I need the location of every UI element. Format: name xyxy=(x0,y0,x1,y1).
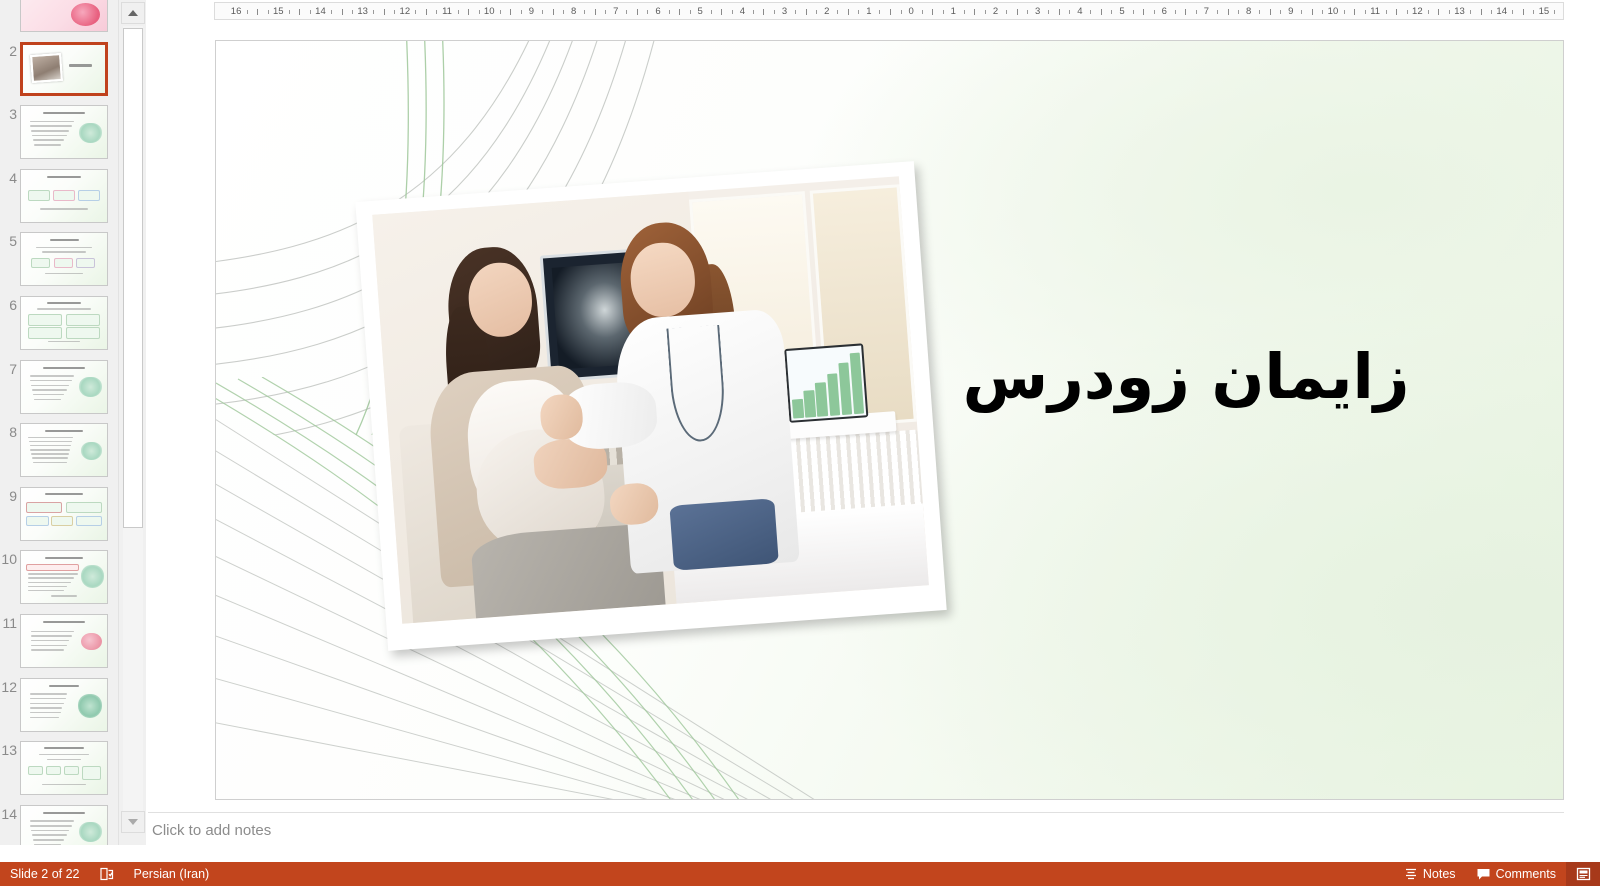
slide-canvas[interactable]: زایمان زودرس xyxy=(215,40,1564,800)
slide-editing-area[interactable]: زایمان زودرس xyxy=(148,22,1564,812)
thumbnail-preview[interactable] xyxy=(20,423,108,477)
ruler-tick xyxy=(1133,10,1134,14)
ruler-tick xyxy=(1238,10,1239,14)
thumbnail-preview[interactable] xyxy=(20,42,108,96)
thumb-text-line xyxy=(31,130,69,132)
thumbnail-preview[interactable] xyxy=(20,614,108,668)
ruler-tick-label: 4 xyxy=(1077,3,1082,20)
thumb-text-line xyxy=(39,754,89,756)
thumbnail-item-7[interactable]: 7 xyxy=(0,360,118,414)
ruler-tick xyxy=(289,10,290,14)
ruler-tick xyxy=(1069,10,1070,14)
thumbnail-preview[interactable] xyxy=(20,232,108,286)
thumbnail-item-9[interactable]: 9 xyxy=(0,487,118,541)
thumbnail-scrollbar[interactable] xyxy=(118,0,146,845)
notes-button[interactable]: Notes xyxy=(1394,862,1466,886)
ruler-tick xyxy=(1059,9,1060,15)
thumb-text-line xyxy=(32,389,66,391)
ruler-tick xyxy=(964,10,965,14)
thumbnail-item-13[interactable]: 13 xyxy=(0,741,118,795)
ruler-tick-label: 5 xyxy=(1119,3,1124,20)
ruler-tick-label: 14 xyxy=(1496,3,1507,20)
thumb-text-line xyxy=(31,645,66,647)
slide-counter[interactable]: Slide 2 of 22 xyxy=(0,862,90,886)
ruler-tick xyxy=(584,10,585,14)
ruler-tick-label: 10 xyxy=(484,3,495,20)
thumb-text-line xyxy=(51,595,77,597)
thumb-art xyxy=(78,694,102,718)
ruler-tick-label: 13 xyxy=(1454,3,1465,20)
thumb-text-line xyxy=(30,707,63,709)
ruler-tick xyxy=(331,10,332,14)
thumbnail-number: 4 xyxy=(0,169,20,185)
ruler-tick xyxy=(595,9,596,15)
thumb-chip xyxy=(28,314,62,326)
notes-button-label: Notes xyxy=(1423,867,1456,881)
thumbnail-number: 7 xyxy=(0,360,20,376)
ruler-tick xyxy=(468,9,469,15)
thumbnail-item-1[interactable]: 1 xyxy=(0,0,118,32)
ruler-tick xyxy=(1090,10,1091,14)
ruler-tick xyxy=(816,10,817,14)
ruler-tick xyxy=(637,9,638,15)
ruler-tick xyxy=(974,9,975,15)
ruler-tick-label: 5 xyxy=(698,3,703,20)
ruler-tick-label: 8 xyxy=(1246,3,1251,20)
ruler-tick xyxy=(1259,10,1260,14)
thumb-text-line xyxy=(30,820,75,822)
ruler-tick xyxy=(1217,10,1218,14)
thumbnail-preview[interactable] xyxy=(20,105,108,159)
comments-icon xyxy=(1476,867,1491,881)
ruler-tick xyxy=(1101,9,1102,15)
thumb-flower-art xyxy=(71,3,100,26)
thumb-text-line xyxy=(47,302,81,304)
ruler-tick xyxy=(879,10,880,14)
ruler-tick-label: 16 xyxy=(231,3,242,20)
ruler-tick xyxy=(1428,10,1429,14)
ruler-tick-label: 1 xyxy=(951,3,956,20)
thumb-text-line xyxy=(47,176,81,178)
thumbnail-item-5[interactable]: 5 xyxy=(0,232,118,286)
thumb-text-line xyxy=(33,839,64,841)
ruler-tick xyxy=(901,10,902,14)
thumb-text-line xyxy=(31,830,69,832)
ruler-tick xyxy=(394,10,395,14)
thumb-photo xyxy=(30,53,63,83)
ruler-tick xyxy=(436,10,437,14)
scroll-up-arrow-icon[interactable] xyxy=(121,2,145,24)
ruler-tick xyxy=(679,9,680,15)
ruler-tick xyxy=(415,10,416,14)
ruler-tick xyxy=(500,10,501,14)
ruler-tick xyxy=(1449,10,1450,14)
thumb-art xyxy=(79,123,101,143)
thumb-text-line xyxy=(45,493,83,495)
thumb-chip xyxy=(26,516,48,526)
thumbnail-number: 12 xyxy=(0,678,20,694)
thumb-art xyxy=(79,377,101,397)
thumb-text-line xyxy=(69,64,92,67)
thumbnail-preview[interactable] xyxy=(20,169,108,223)
ruler-tick xyxy=(1185,9,1186,15)
comments-button[interactable]: Comments xyxy=(1466,862,1566,886)
ruler-tick xyxy=(373,10,374,14)
ruler-tick xyxy=(1270,9,1271,15)
accessibility-checker-icon[interactable] xyxy=(90,862,124,886)
ruler-tick xyxy=(1407,10,1408,14)
ruler-tick xyxy=(1365,10,1366,14)
thumb-text-line xyxy=(30,825,71,827)
ruler-tick xyxy=(1017,9,1018,15)
ruler-tick xyxy=(837,10,838,14)
ruler-tick-label: 3 xyxy=(1035,3,1040,20)
thumb-text-line xyxy=(28,586,68,588)
reading-view-button[interactable] xyxy=(1566,862,1600,886)
ruler-tick xyxy=(257,9,258,15)
thumb-text-line xyxy=(43,621,84,623)
thumb-text-line xyxy=(48,341,81,343)
thumb-chip xyxy=(46,766,61,775)
thumbnail-item-8[interactable]: 8 xyxy=(0,423,118,477)
language-indicator[interactable]: Persian (Iran) xyxy=(124,862,220,886)
ruler-tick-label: 6 xyxy=(655,3,660,20)
thumbnail-number: 11 xyxy=(0,614,20,630)
ruler-tick xyxy=(1344,10,1345,14)
ruler-tick xyxy=(384,9,385,15)
thumb-chip xyxy=(76,258,95,267)
ruler-tick xyxy=(1438,9,1439,15)
thumbnail-item-6[interactable]: 6 xyxy=(0,296,118,350)
ruler-tick xyxy=(553,9,554,15)
ruler-tick xyxy=(310,10,311,14)
thumb-text-line xyxy=(31,385,69,387)
ruler-tick xyxy=(626,10,627,14)
ruler-tick xyxy=(1196,10,1197,14)
status-bar: Slide 2 of 22 Persian (Iran) Notes Comme… xyxy=(0,862,1600,886)
ruler-tick-label: 9 xyxy=(1288,3,1293,20)
thumbnail-preview[interactable] xyxy=(20,487,108,541)
ruler-tick xyxy=(1143,9,1144,15)
thumb-text-line xyxy=(28,573,78,575)
ruler-tick xyxy=(510,9,511,15)
thumb-chip xyxy=(31,258,50,267)
ruler-tick xyxy=(458,10,459,14)
thumbnail-number: 2 xyxy=(0,42,20,58)
ruler-tick xyxy=(1481,9,1482,15)
ruler-tick xyxy=(1111,10,1112,14)
ruler-tick xyxy=(721,9,722,15)
thumbnail-preview[interactable] xyxy=(20,360,108,414)
thumb-background xyxy=(21,488,107,540)
ruler-tick xyxy=(1396,9,1397,15)
ruler-tick xyxy=(342,9,343,15)
ruler-tick xyxy=(479,10,480,14)
ruler-tick xyxy=(247,10,248,14)
ruler-tick xyxy=(711,10,712,14)
thumb-chip xyxy=(66,327,100,338)
notes-pane[interactable]: Click to add notes xyxy=(148,812,1564,845)
ruler-tick-label: 7 xyxy=(1204,3,1209,20)
thumb-text-line xyxy=(33,462,67,464)
thumb-text-line xyxy=(28,577,74,579)
thumb-chip xyxy=(54,258,73,267)
ruler-tick-label: 15 xyxy=(1539,3,1550,20)
ruler-tick xyxy=(690,10,691,14)
ruler-tick-label: 6 xyxy=(1162,3,1167,20)
photo-image xyxy=(372,176,929,624)
ruler-tick xyxy=(1354,9,1355,15)
ruler-tick xyxy=(985,10,986,14)
thumb-chip xyxy=(76,516,102,526)
thumb-text-line xyxy=(43,367,84,369)
ruler-tick xyxy=(922,10,923,14)
slide-title-text[interactable]: زایمان زودرس xyxy=(856,341,1516,412)
ruler-tick xyxy=(647,10,648,14)
thumbnail-number: 3 xyxy=(0,105,20,121)
thumb-chip xyxy=(66,502,102,512)
ruler-tick xyxy=(1512,10,1513,14)
ruler-tick xyxy=(1280,10,1281,14)
ruler-tick xyxy=(1533,10,1534,14)
thumb-text-line xyxy=(33,139,64,141)
thumb-text-line xyxy=(50,239,79,241)
ruler-tick xyxy=(1554,10,1555,14)
thumb-text-line xyxy=(30,693,68,695)
ruler-tick xyxy=(1175,10,1176,14)
thumb-chip xyxy=(64,766,79,775)
ruler-tick-label: 14 xyxy=(315,3,326,20)
notes-icon xyxy=(1404,867,1418,881)
thumb-text-line xyxy=(30,121,75,123)
thumb-text-line xyxy=(43,812,84,814)
ruler-tick xyxy=(1386,10,1387,14)
ruler-tick xyxy=(848,9,849,15)
horizontal-ruler: 1615141312111098765432101234567891011121… xyxy=(214,2,1564,20)
thumbnail-preview[interactable] xyxy=(20,678,108,732)
ruler-tick-label: 9 xyxy=(529,3,534,20)
thumb-text-line xyxy=(42,251,87,253)
ruler-tick xyxy=(932,9,933,15)
ruler-tick xyxy=(858,10,859,14)
ruler-tick xyxy=(1048,10,1049,14)
thumb-text-line xyxy=(37,308,90,310)
ruler-tick-label: 11 xyxy=(442,3,452,20)
ruler-tick xyxy=(795,10,796,14)
ruler-tick-label: 1 xyxy=(866,3,871,20)
thumbnail-number: 10 xyxy=(0,550,20,566)
thumbnail-preview[interactable] xyxy=(20,296,108,350)
thumb-text-line xyxy=(31,631,74,633)
ruler-tick xyxy=(352,10,353,14)
thumbnail-item-11[interactable]: 11 xyxy=(0,614,118,668)
ruler-tick-label: 12 xyxy=(400,3,411,20)
thumbnail-number: 13 xyxy=(0,741,20,757)
thumb-chip xyxy=(26,564,79,571)
ruler-tick xyxy=(732,10,733,14)
thumbnail-preview[interactable] xyxy=(20,805,108,845)
thumb-text-line xyxy=(31,453,69,455)
thumb-text-line xyxy=(45,557,83,559)
thumb-chip xyxy=(51,516,73,526)
ruler-tick xyxy=(426,9,427,15)
ruler-tick-label: 2 xyxy=(824,3,829,20)
thumb-text-line xyxy=(32,457,68,459)
thumb-chip xyxy=(26,502,62,512)
ruler-tick xyxy=(753,10,754,14)
ruler-tick-label: 7 xyxy=(613,3,618,20)
ruler-tick xyxy=(890,9,891,15)
thumb-flower-art xyxy=(81,633,102,651)
thumbnail-preview[interactable] xyxy=(20,0,108,32)
thumb-text-line xyxy=(30,375,75,377)
ruler-tick xyxy=(542,10,543,14)
scroll-down-arrow-icon[interactable] xyxy=(121,811,145,833)
ruler-tick xyxy=(563,10,564,14)
ruler-tick-label: 0 xyxy=(908,3,913,20)
ruler-tick xyxy=(1322,10,1323,14)
ruler-tick xyxy=(1154,10,1155,14)
thumb-text-line xyxy=(32,834,66,836)
ruler-tick xyxy=(1523,9,1524,15)
ruler-tick-label: 13 xyxy=(357,3,368,20)
ruler-tick xyxy=(774,10,775,14)
thumbnail-item-3[interactable]: 3 xyxy=(0,105,118,159)
ruler-tick-label: 10 xyxy=(1328,3,1339,20)
ruler-tick xyxy=(763,9,764,15)
ruler-tick xyxy=(943,10,944,14)
thumb-text-line xyxy=(30,449,70,451)
ruler-tick-label: 4 xyxy=(740,3,745,20)
thumbnail-item-2[interactable]: 2 xyxy=(0,42,118,96)
ruler-tick-label: 11 xyxy=(1370,3,1380,20)
ruler-tick xyxy=(299,9,300,15)
thumbnail-number: 9 xyxy=(0,487,20,503)
thumb-chip xyxy=(53,190,75,201)
slide-thumbnail-pane[interactable]: 1234567891011121314 xyxy=(0,0,118,845)
ruler-tick-label: 3 xyxy=(782,3,787,20)
thumb-text-line xyxy=(34,399,62,401)
ruler-tick xyxy=(1312,9,1313,15)
thumbnail-number: 5 xyxy=(0,232,20,248)
ruler-tick xyxy=(1301,10,1302,14)
ruler-tick xyxy=(1006,10,1007,14)
thumb-text-line xyxy=(34,844,62,845)
thumb-text-line xyxy=(28,437,73,439)
thumbnail-number: 8 xyxy=(0,423,20,439)
ruler-tick xyxy=(521,10,522,14)
thumb-chip xyxy=(28,766,43,775)
thumb-text-line xyxy=(49,685,80,687)
thumb-chip xyxy=(78,190,100,201)
ruler-tick-label: 2 xyxy=(993,3,998,20)
thumb-text-line xyxy=(31,635,71,637)
ruler-tick xyxy=(1027,10,1028,14)
thumb-text-line xyxy=(30,703,64,705)
thumb-chip xyxy=(66,314,100,326)
ruler-tick xyxy=(1470,10,1471,14)
thumbnail-item-4[interactable]: 4 xyxy=(0,169,118,223)
thumb-text-line xyxy=(40,208,88,210)
scrollbar-thumb[interactable] xyxy=(123,28,143,528)
ruler-tick xyxy=(268,10,269,14)
thumb-art xyxy=(79,822,101,842)
thumbnail-preview[interactable] xyxy=(20,550,108,604)
ruler-tick xyxy=(1491,10,1492,14)
thumbnail-item-14[interactable]: 14 xyxy=(0,805,118,845)
ruler-tick-label: 15 xyxy=(273,3,284,20)
thumb-text-line xyxy=(30,125,71,127)
thumbnail-item-10[interactable]: 10 xyxy=(0,550,118,604)
thumbnail-number: 6 xyxy=(0,296,20,312)
thumbnail-item-12[interactable]: 12 xyxy=(0,678,118,732)
comments-button-label: Comments xyxy=(1496,867,1556,881)
ruler-tick xyxy=(1228,9,1229,15)
ruler-tick xyxy=(669,10,670,14)
thumb-chip xyxy=(28,190,50,201)
thumb-text-line xyxy=(31,649,64,651)
thumb-art xyxy=(81,442,102,460)
thumb-text-line xyxy=(34,144,62,146)
ruler-tick xyxy=(605,10,606,14)
thumb-art xyxy=(81,565,103,588)
thumbnail-preview[interactable] xyxy=(20,741,108,795)
thumb-text-line xyxy=(30,717,59,719)
ruler-tick xyxy=(806,9,807,15)
thumbnail-number: 14 xyxy=(0,805,20,821)
notes-placeholder[interactable]: Click to add notes xyxy=(152,822,271,839)
accessibility-icon-glyph xyxy=(100,867,114,881)
reading-view-icon xyxy=(1576,867,1591,881)
ruler-tick-label: 8 xyxy=(571,3,576,20)
thumb-chip xyxy=(82,766,101,780)
ruler-tick-label: 12 xyxy=(1412,3,1423,20)
thumb-chip xyxy=(28,327,62,338)
thumb-text-line xyxy=(28,582,71,584)
